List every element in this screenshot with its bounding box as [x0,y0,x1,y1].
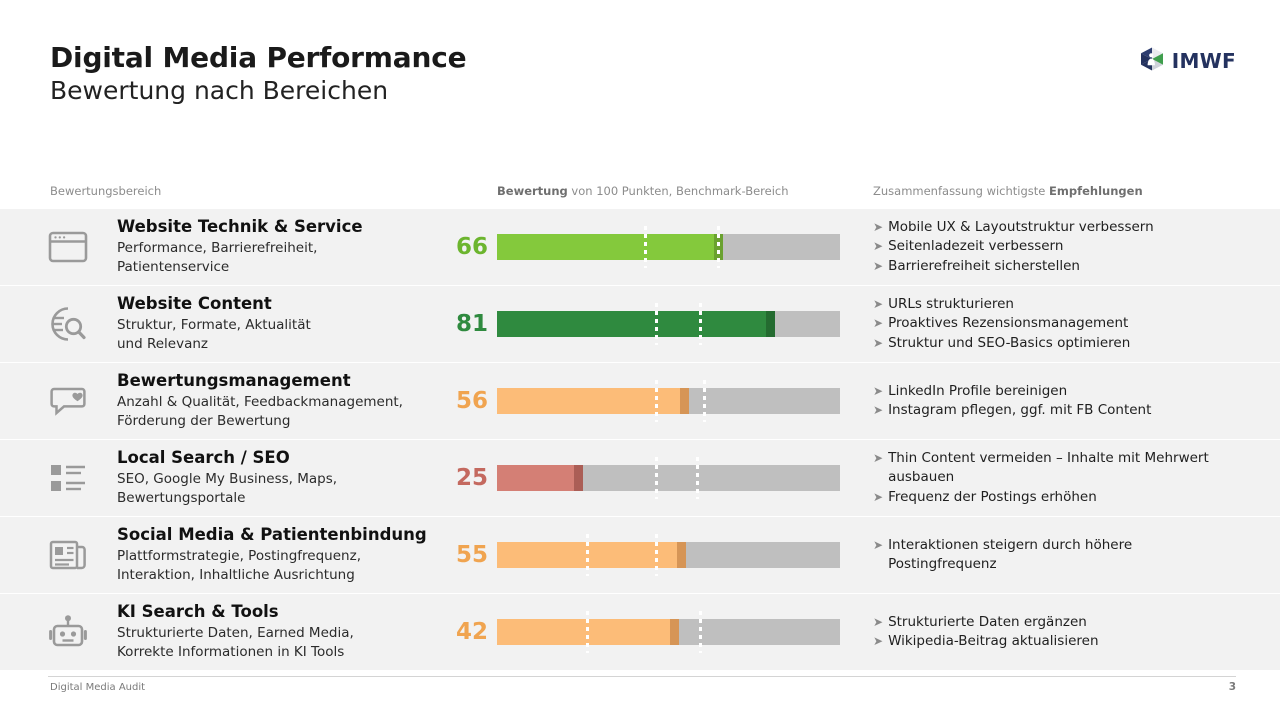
area-title: Social Media & Patientenbindung [117,525,477,546]
score-bar-edge [677,542,686,568]
recommendation-item: ➤ Frequenz der Postings erhöhen [873,488,1243,507]
score-bar-fill [497,234,723,260]
score-value: 81 [440,286,488,362]
recommendation-item: ➤ Instagram pflegen, ggf. mit FB Content [873,401,1243,420]
recommendation-text: Strukturierte Daten ergänzen [888,613,1243,632]
area-description: Plattformstrategie, Postingfrequenz, Int… [117,547,477,585]
score-value: 66 [440,209,488,285]
score-value: 56 [440,363,488,439]
arrow-right-icon: ➤ [873,295,883,313]
recommendation-text: Frequenz der Postings erhöhen [888,488,1243,507]
area-description-line1: Strukturierte Daten, Earned Media, [117,625,354,641]
score-bar-track [497,311,840,337]
column-header-recs-strong: Empfehlungen [1049,184,1143,198]
benchmark-marker [586,534,589,576]
score-bar-cell [497,209,840,285]
review-chat-heart-icon [46,363,90,439]
column-header-recommendations: Zusammenfassung wichtigste Empfehlungen [873,184,1143,198]
benchmark-marker [586,611,589,653]
recommendation-item: ➤ Seitenladezeit verbessern [873,237,1243,256]
recommendation-text: Struktur und SEO-Basics optimieren [888,334,1243,353]
recommendation-text: Interaktionen steigern durch höhere Post… [888,536,1243,574]
score-value: 25 [440,440,488,516]
arrow-right-icon: ➤ [873,632,883,650]
recommendations-cell: ➤ URLs strukturieren ➤ Proaktives Rezens… [873,286,1243,362]
table-row: Social Media & Patientenbindung Plattfor… [0,517,1280,593]
table-row: Local Search / SEO SEO, Google My Busine… [0,440,1280,516]
column-header-score: Bewertung von 100 Punkten, Benchmark-Ber… [497,184,789,198]
footer-label: Digital Media Audit [50,682,145,693]
recommendations-cell: ➤ Thin Content vermeiden – Inhalte mit M… [873,440,1243,516]
area-description-line2: Bewertungsportale [117,490,245,506]
arrow-right-icon: ➤ [873,382,883,400]
arrow-right-icon: ➤ [873,237,883,255]
brand-logo: IMWF [1139,46,1236,76]
footer-divider [48,676,1236,677]
area-description: Anzahl & Qualität, Feedbackmanagement, F… [117,393,477,431]
benchmark-marker [699,611,702,653]
score-bar-edge [766,311,775,337]
area-label-cell: Website Technik & Service Performance, B… [117,209,477,285]
table-row: KI Search & Tools Strukturierte Daten, E… [0,594,1280,670]
table-row: Website Content Struktur, Formate, Aktua… [0,286,1280,362]
score-bar-fill [497,465,583,491]
arrow-right-icon: ➤ [873,314,883,332]
score-bar-fill [497,388,689,414]
area-label-cell: Local Search / SEO SEO, Google My Busine… [117,440,477,516]
benchmark-marker [699,303,702,345]
score-bar-cell [497,363,840,439]
area-title: Website Content [117,294,477,315]
score-bar-fill [497,311,775,337]
score-bar-edge [680,388,689,414]
page-title: Digital Media Performance [50,42,750,73]
recommendation-item: ➤ LinkedIn Profile bereinigen [873,382,1243,401]
arrow-right-icon: ➤ [873,257,883,275]
imwf-hexagon-icon [1139,46,1165,76]
recommendation-item: ➤ Mobile UX & Layoutstruktur verbessern [873,218,1243,237]
logo-wordmark: IMWF [1172,49,1236,73]
area-description-line1: SEO, Google My Business, Maps, [117,471,337,487]
score-bar-edge [574,465,583,491]
arrow-right-icon: ➤ [873,218,883,236]
area-description: Performance, Barrierefreiheit, Patienten… [117,239,477,277]
benchmark-marker [655,534,658,576]
area-description-line2: und Relevanz [117,336,208,352]
arrow-right-icon: ➤ [873,334,883,352]
slide-header: Digital Media Performance Bewertung nach… [50,42,750,106]
score-bar-track [497,234,840,260]
assessment-rows: Website Technik & Service Performance, B… [0,209,1280,671]
table-row: Website Technik & Service Performance, B… [0,209,1280,285]
benchmark-marker [655,457,658,499]
arrow-right-icon: ➤ [873,536,883,554]
recommendation-item: ➤ Struktur und SEO-Basics optimieren [873,334,1243,353]
area-description-line2: Korrekte Informationen in KI Tools [117,644,344,660]
browser-window-icon [46,209,90,285]
recommendation-item: ➤ Interaktionen steigern durch höhere Po… [873,536,1243,574]
recommendation-text: LinkedIn Profile bereinigen [888,382,1243,401]
benchmark-marker [644,226,647,268]
benchmark-marker [696,457,699,499]
benchmark-marker [655,303,658,345]
recommendations-cell: ➤ Interaktionen steigern durch höhere Po… [873,517,1243,593]
area-description: Struktur, Formate, Aktualität und Releva… [117,316,477,354]
area-description-line1: Plattformstrategie, Postingfrequenz, [117,548,361,564]
area-description-line2: Förderung der Bewertung [117,413,290,429]
benchmark-marker [655,380,658,422]
table-row: Bewertungsmanagement Anzahl & Qualität, … [0,363,1280,439]
recommendation-item: ➤ Thin Content vermeiden – Inhalte mit M… [873,449,1243,487]
column-header-score-strong: Bewertung [497,184,568,198]
recommendation-item: ➤ URLs strukturieren [873,295,1243,314]
recommendation-text: Instagram pflegen, ggf. mit FB Content [888,401,1243,420]
score-bar-track [497,465,840,491]
content-search-icon [46,286,90,362]
arrow-right-icon: ➤ [873,401,883,419]
area-description-line1: Struktur, Formate, Aktualität [117,317,311,333]
recommendation-text: Thin Content vermeiden – Inhalte mit Meh… [888,449,1243,487]
column-headers: Bewertungsbereich Bewertung von 100 Punk… [0,184,1280,202]
score-bar-track [497,388,840,414]
page-subtitle: Bewertung nach Bereichen [50,76,750,106]
area-title: Website Technik & Service [117,217,477,238]
column-header-recs-rest: Zusammenfassung wichtigste [873,184,1049,198]
score-value: 55 [440,517,488,593]
score-bar-cell [497,517,840,593]
score-bar-track [497,619,840,645]
area-description: Strukturierte Daten, Earned Media, Korre… [117,624,477,662]
area-label-cell: Social Media & Patientenbindung Plattfor… [117,517,477,593]
area-description-line1: Anzahl & Qualität, Feedbackmanagement, [117,394,403,410]
area-label-cell: Bewertungsmanagement Anzahl & Qualität, … [117,363,477,439]
newspaper-icon [46,517,90,593]
area-label-cell: Website Content Struktur, Formate, Aktua… [117,286,477,362]
score-bar-cell [497,286,840,362]
score-bar-cell [497,440,840,516]
area-description-line2: Patientenservice [117,259,229,275]
recommendation-text: Proaktives Rezensionsmanagement [888,314,1243,333]
recommendations-cell: ➤ Strukturierte Daten ergänzen ➤ Wikiped… [873,594,1243,670]
robot-icon [46,594,90,670]
recommendation-text: Wikipedia-Beitrag aktualisieren [888,632,1243,651]
column-header-area: Bewertungsbereich [50,184,161,198]
recommendations-cell: ➤ LinkedIn Profile bereinigen ➤ Instagra… [873,363,1243,439]
arrow-right-icon: ➤ [873,488,883,506]
list-blocks-icon [46,440,90,516]
score-bar-edge [670,619,679,645]
recommendations-cell: ➤ Mobile UX & Layoutstruktur verbessern … [873,209,1243,285]
area-description: SEO, Google My Business, Maps, Bewertung… [117,470,477,508]
area-title: KI Search & Tools [117,602,477,623]
score-bar-cell [497,594,840,670]
page-number: 3 [1229,681,1236,693]
arrow-right-icon: ➤ [873,449,883,467]
benchmark-marker [703,380,706,422]
column-header-score-rest: von 100 Punkten, Benchmark-Bereich [568,184,789,198]
area-description-line2: Interaktion, Inhaltliche Ausrichtung [117,567,355,583]
recommendation-text: Seitenladezeit verbessern [888,237,1243,256]
area-label-cell: KI Search & Tools Strukturierte Daten, E… [117,594,477,670]
recommendation-item: ➤ Strukturierte Daten ergänzen [873,613,1243,632]
recommendation-text: Barrierefreiheit sicherstellen [888,257,1243,276]
area-description-line1: Performance, Barrierefreiheit, [117,240,317,256]
score-bar-track [497,542,840,568]
benchmark-marker [717,226,720,268]
score-value: 42 [440,594,488,670]
area-title: Local Search / SEO [117,448,477,469]
area-title: Bewertungsmanagement [117,371,477,392]
recommendation-item: ➤ Wikipedia-Beitrag aktualisieren [873,632,1243,651]
recommendation-item: ➤ Barrierefreiheit sicherstellen [873,257,1243,276]
arrow-right-icon: ➤ [873,613,883,631]
recommendation-item: ➤ Proaktives Rezensionsmanagement [873,314,1243,333]
recommendation-text: URLs strukturieren [888,295,1243,314]
recommendation-text: Mobile UX & Layoutstruktur verbessern [888,218,1243,237]
